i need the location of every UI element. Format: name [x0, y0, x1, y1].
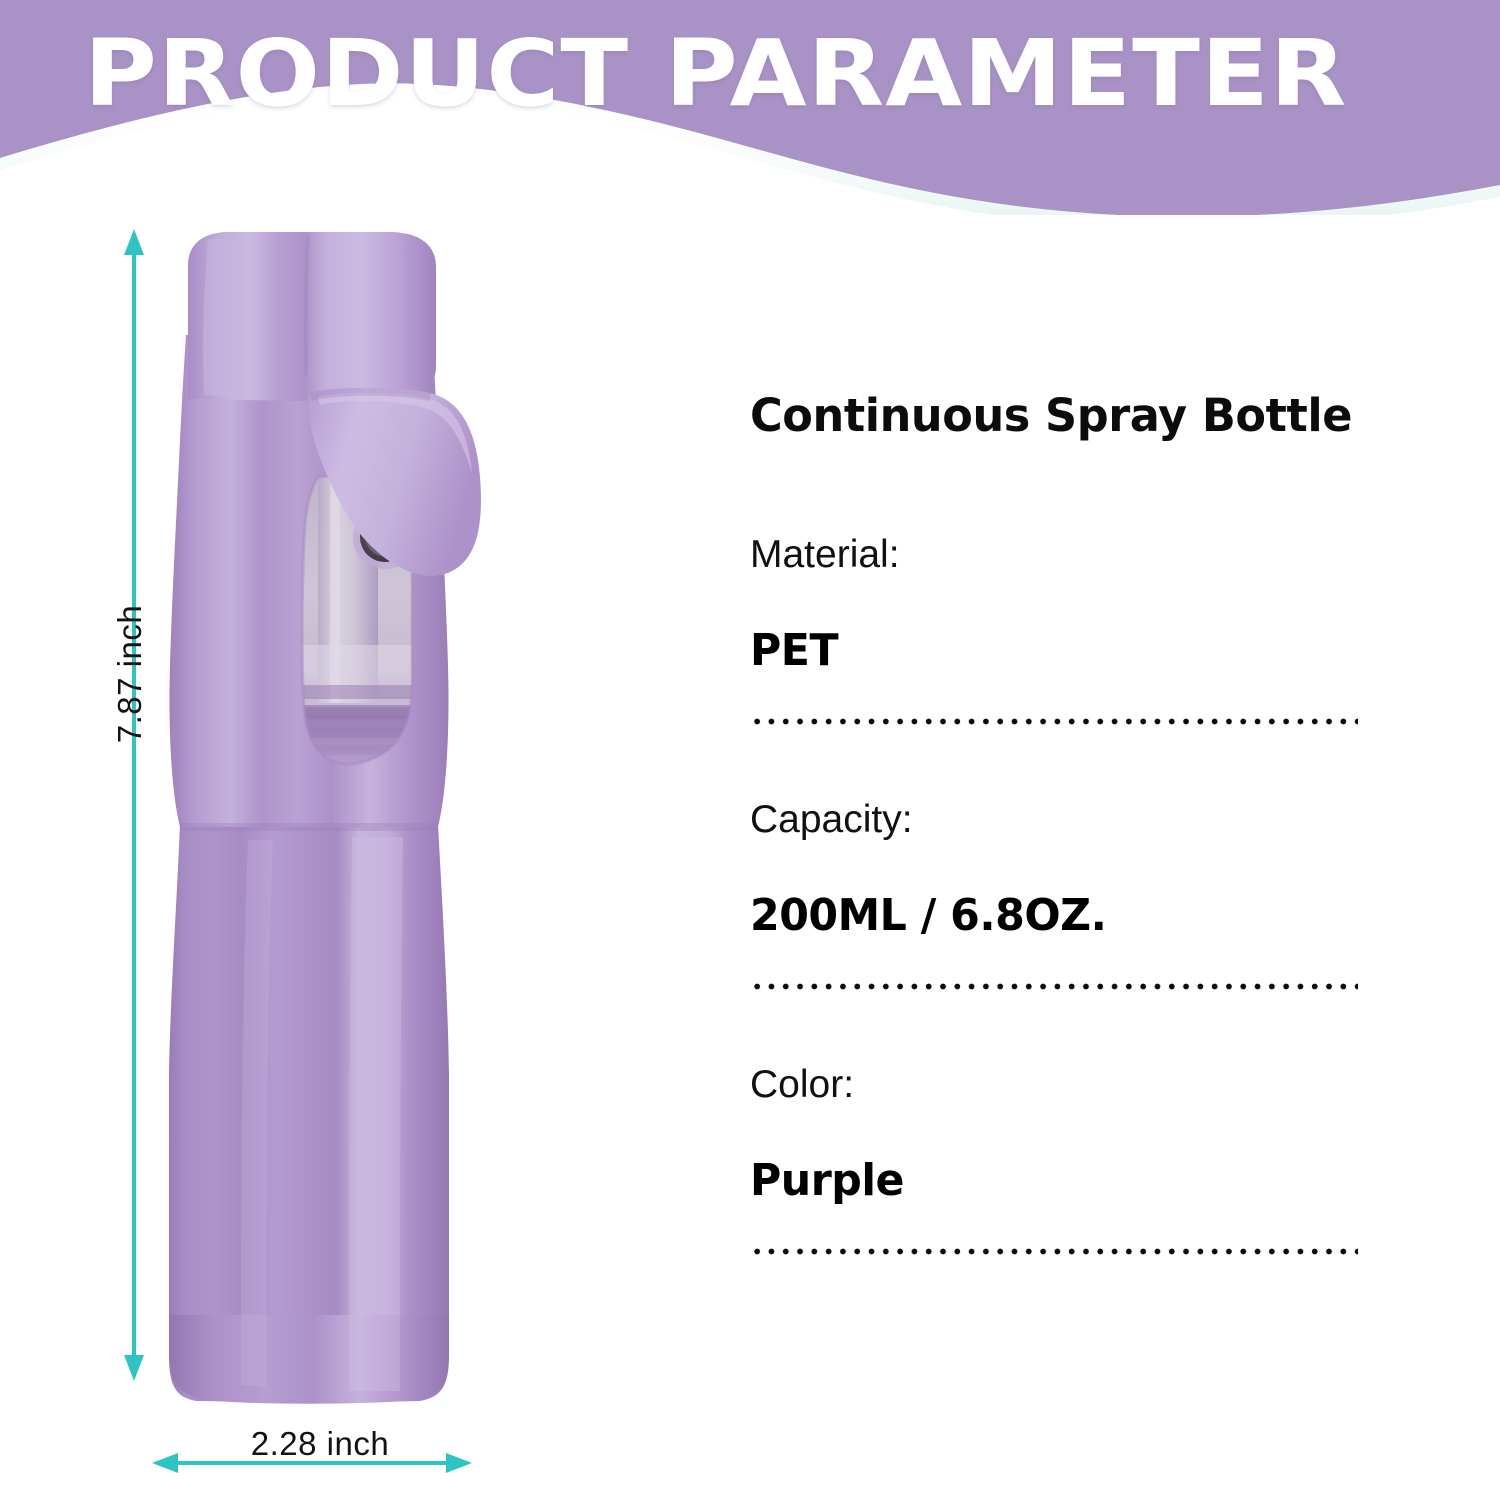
spec-value-material: PET: [750, 626, 1342, 676]
height-arrow-bottom: [124, 1355, 144, 1381]
product-name-heading: Continuous Spray Bottle: [750, 390, 1354, 442]
spec-label-color: Color:: [750, 1062, 1360, 1108]
spec-label-material: Material:: [750, 532, 1360, 578]
spec-divider-color: [750, 1248, 1358, 1255]
spec-divider-material: [750, 718, 1358, 725]
header-banner: PRODUCT PARAMETER: [0, 0, 1500, 215]
spec-divider-capacity: [750, 983, 1358, 990]
spec-value-color: Purple: [750, 1156, 1342, 1206]
spec-label-capacity: Capacity:: [750, 797, 1360, 843]
dimension-arrows: [0, 215, 720, 1500]
height-arrow-top: [124, 229, 144, 255]
spec-row-color: Color: Purple: [750, 1062, 1360, 1255]
spec-row-capacity: Capacity: 200ML / 6.8OZ.: [750, 797, 1360, 990]
page-title: PRODUCT PARAMETER: [84, 20, 1380, 128]
product-figure: [0, 215, 720, 1500]
spec-value-capacity: 200ML / 6.8OZ.: [750, 891, 1342, 941]
width-dimension-label: 2.28 inch: [120, 1425, 520, 1463]
spec-row-material: Material: PET: [750, 532, 1360, 725]
spec-panel: Continuous Spray Bottle Material: PET Ca…: [750, 390, 1360, 1255]
height-dimension-label: 7.87 inch: [111, 574, 149, 774]
